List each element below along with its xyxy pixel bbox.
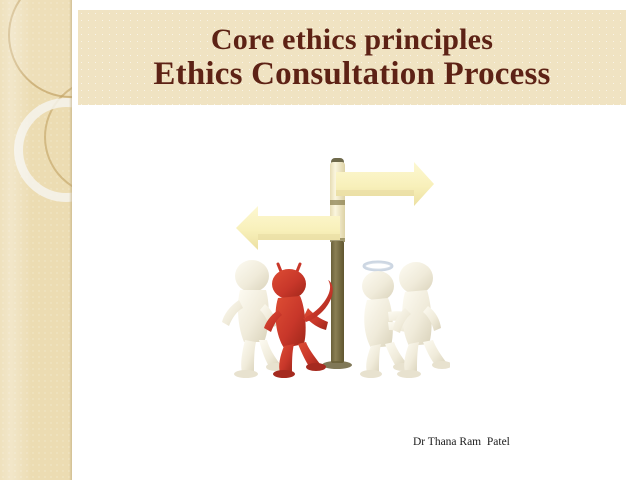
halo-icon: [364, 262, 392, 270]
author-credits: Dr Thana Ram Patel Assistant Professor D…: [413, 406, 560, 480]
slide-canvas: Core ethics principles Ethics Consultati…: [0, 0, 640, 480]
band-right-edge: [69, 0, 72, 480]
sign-arrow-right: [336, 162, 434, 206]
title-band: Core ethics principles Ethics Consultati…: [78, 10, 626, 105]
page-title-line-2: Ethics Consultation Process: [153, 57, 550, 91]
page-title-line-1: Core ethics principles: [211, 24, 493, 55]
figure-group-right: [360, 262, 450, 378]
signpost-illustration: [218, 138, 450, 378]
sign-arrow-left: [236, 206, 340, 250]
author-name: Dr Thana Ram Patel: [413, 435, 560, 450]
decorative-left-band: [0, 0, 72, 480]
band-sheen: [0, 0, 50, 480]
figure-group-left: [222, 260, 333, 378]
